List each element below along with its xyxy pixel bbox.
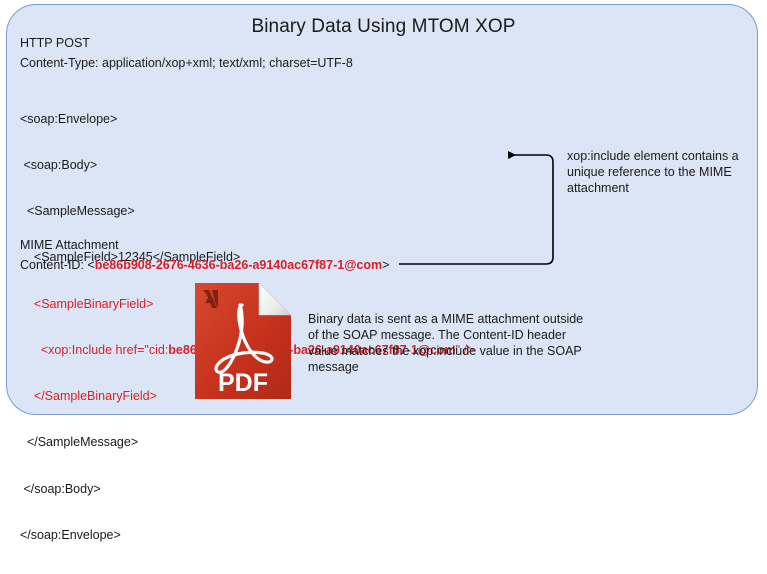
content-id-suffix: > [382, 258, 389, 272]
annotation-binary-data: Binary data is sent as a MIME attachment… [308, 311, 586, 375]
diagram-title: Binary Data Using MTOM XOP [0, 16, 767, 38]
content-id-line: Content-ID: <be86b908-2676-4636-ba26-a91… [20, 258, 389, 272]
content-type-line: Content-Type: application/xop+xml; text/… [20, 56, 353, 70]
content-id-prefix: Content-ID: < [20, 258, 95, 272]
xop-include-prefix: <xop:Include href="cid: [20, 343, 168, 357]
content-id-value: be86b908-2676-4636-ba26-a9140ac67f87-1@c… [95, 258, 382, 272]
annotation-xop-include: xop:include element contains a unique re… [567, 148, 757, 196]
mime-attachment-label: MIME Attachment [20, 238, 119, 252]
diagram-canvas: Binary Data Using MTOM XOP HTTP POST Con… [0, 0, 767, 423]
http-post-label: HTTP POST [20, 36, 90, 50]
xml-line-samplemessage-open: <SampleMessage> [20, 204, 474, 219]
xml-line-envelope-open: <soap:Envelope> [20, 112, 474, 127]
pdf-icon-label: PDF [218, 369, 268, 397]
xml-line-body-open: <soap:Body> [20, 158, 474, 173]
xml-line-samplemessage-close: </SampleMessage> [20, 435, 474, 450]
pdf-file-icon: PDF [195, 283, 291, 399]
xml-line-body-close: </soap:Body> [20, 482, 474, 497]
xml-line-envelope-close: </soap:Envelope> [20, 528, 474, 543]
